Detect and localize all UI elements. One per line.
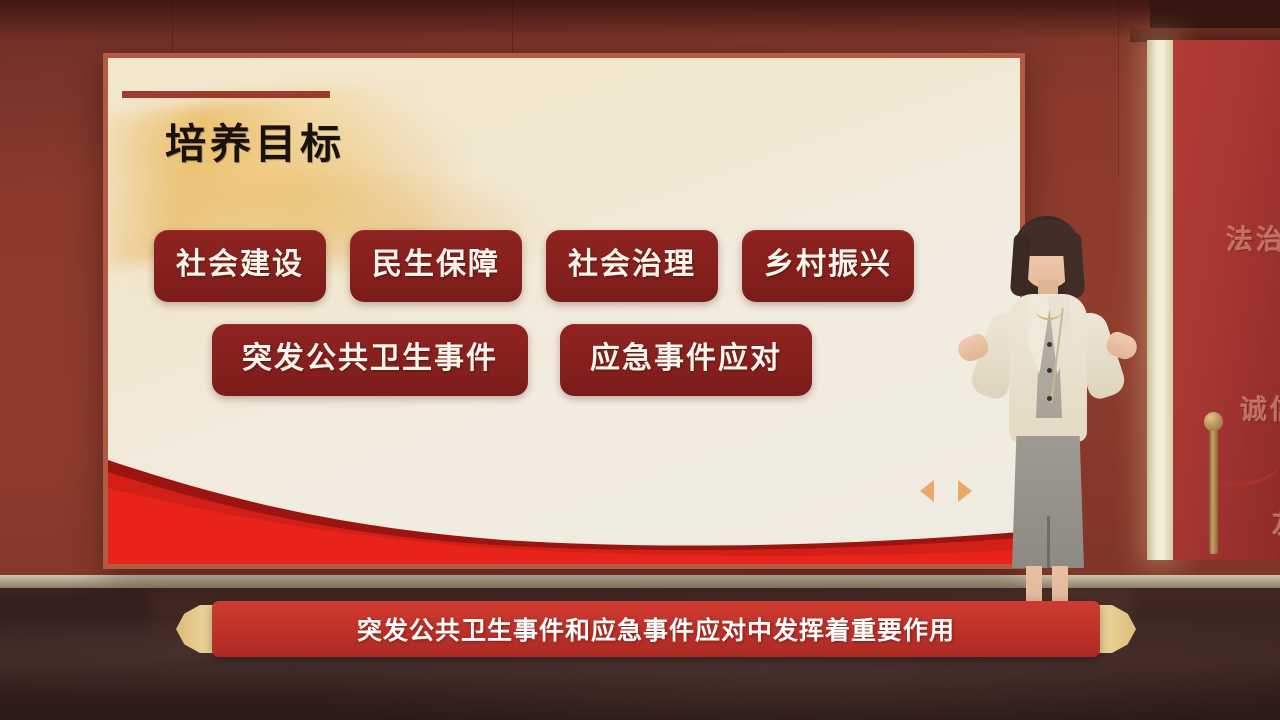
stanchion-post [1209,428,1218,554]
tag-row-1: 社会建设 民生保障 社会治理 乡村振兴 [154,230,984,302]
presenter-necklace [1036,302,1062,320]
banner-body: 突发公共卫生事件和应急事件应对中发挥着重要作用 [212,601,1100,657]
wall-word-you: 友 [1272,502,1280,541]
tag-tufa-gonggong-weisheng-shijian[interactable]: 突发公共卫生事件 [212,324,528,396]
wall-word-chengxin: 诚信 [1240,388,1280,427]
presenter-button [1047,342,1052,347]
tag-row-2: 突发公共卫生事件 应急事件应对 [154,324,984,396]
tag-xiangcun-zhenxing[interactable]: 乡村振兴 [742,230,914,302]
tag-shehui-zhili[interactable]: 社会治理 [546,230,718,302]
subtitle-banner: 突发公共卫生事件和应急事件应对中发挥着重要作用 [176,601,1136,657]
subtitle-text: 突发公共卫生事件和应急事件应对中发挥着重要作用 [357,611,955,647]
presenter-button [1047,396,1052,401]
tag-group: 社会建设 民生保障 社会治理 乡村振兴 突发公共卫生事件 应急事件应对 [154,230,984,418]
presenter-skirt-slit [1047,516,1050,568]
light-strip [1147,40,1173,560]
slide-canvas: 培养目标 社会建设 民生保障 社会治理 乡村振兴 突发公共卫生事件 应急事件应对 [108,58,1020,564]
tag-minsheng-baozhang[interactable]: 民生保障 [350,230,522,302]
virtual-presenter [952,216,1142,660]
wall-top-shadow [0,0,1280,40]
presenter-button [1047,368,1052,373]
studio-stage: 法治 德 诚信 友 培养目标 社会建设 民生保障 社会治理 乡村振兴 突 [0,0,1280,720]
presenter-hair-right [1062,231,1086,298]
tag-yingji-shijian-yingdui[interactable]: 应急事件应对 [560,324,812,396]
wall-word-fazhi: 法治 [1226,218,1280,257]
page-title: 培养目标 [165,110,345,170]
red-wave-decoration [108,454,1020,564]
wall-seam [1118,0,1119,175]
presentation-screen: 培养目标 社会建设 民生保障 社会治理 乡村振兴 突发公共卫生事件 应急事件应对 [103,53,1025,569]
tag-shehui-jianshe[interactable]: 社会建设 [154,230,326,302]
title-rule [122,91,330,98]
